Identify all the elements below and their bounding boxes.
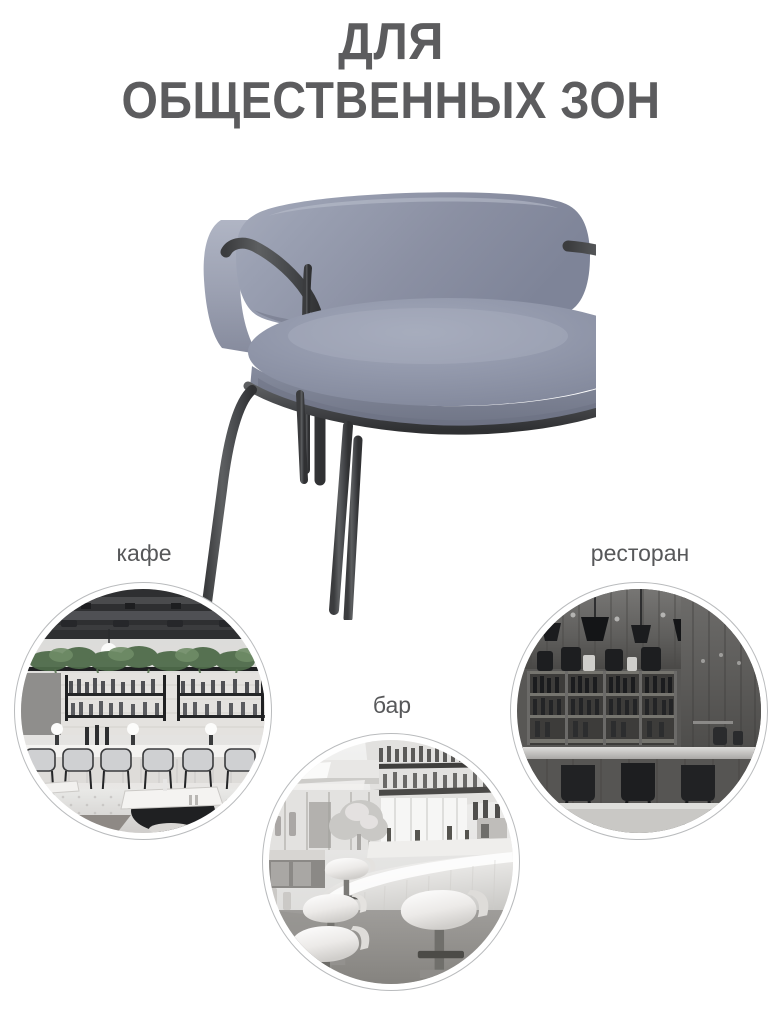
scene-photo-restaurant <box>517 589 761 833</box>
page-title: ДЛЯ ОБЩЕСТВЕННЫХ ЗОН <box>0 16 782 128</box>
scene-label-cafe: кафе <box>8 540 280 567</box>
page-title-line-1: ДЛЯ <box>23 16 758 69</box>
page-title-line-2: ОБЩЕСТВЕННЫХ ЗОН <box>39 75 743 128</box>
scene-label-bar: бар <box>256 692 528 719</box>
scene-circle-cafe: кафе <box>8 540 280 850</box>
scene-photo-cafe <box>21 589 265 833</box>
promo-banner: ДЛЯ ОБЩЕСТВЕННЫХ ЗОН <box>0 0 782 1015</box>
scene-label-restaurant: ресторан <box>504 540 776 567</box>
scene-circle-bar: бар <box>256 692 528 1002</box>
scene-photo-bar <box>269 740 513 984</box>
scene-circle-restaurant: ресторан <box>504 540 776 850</box>
